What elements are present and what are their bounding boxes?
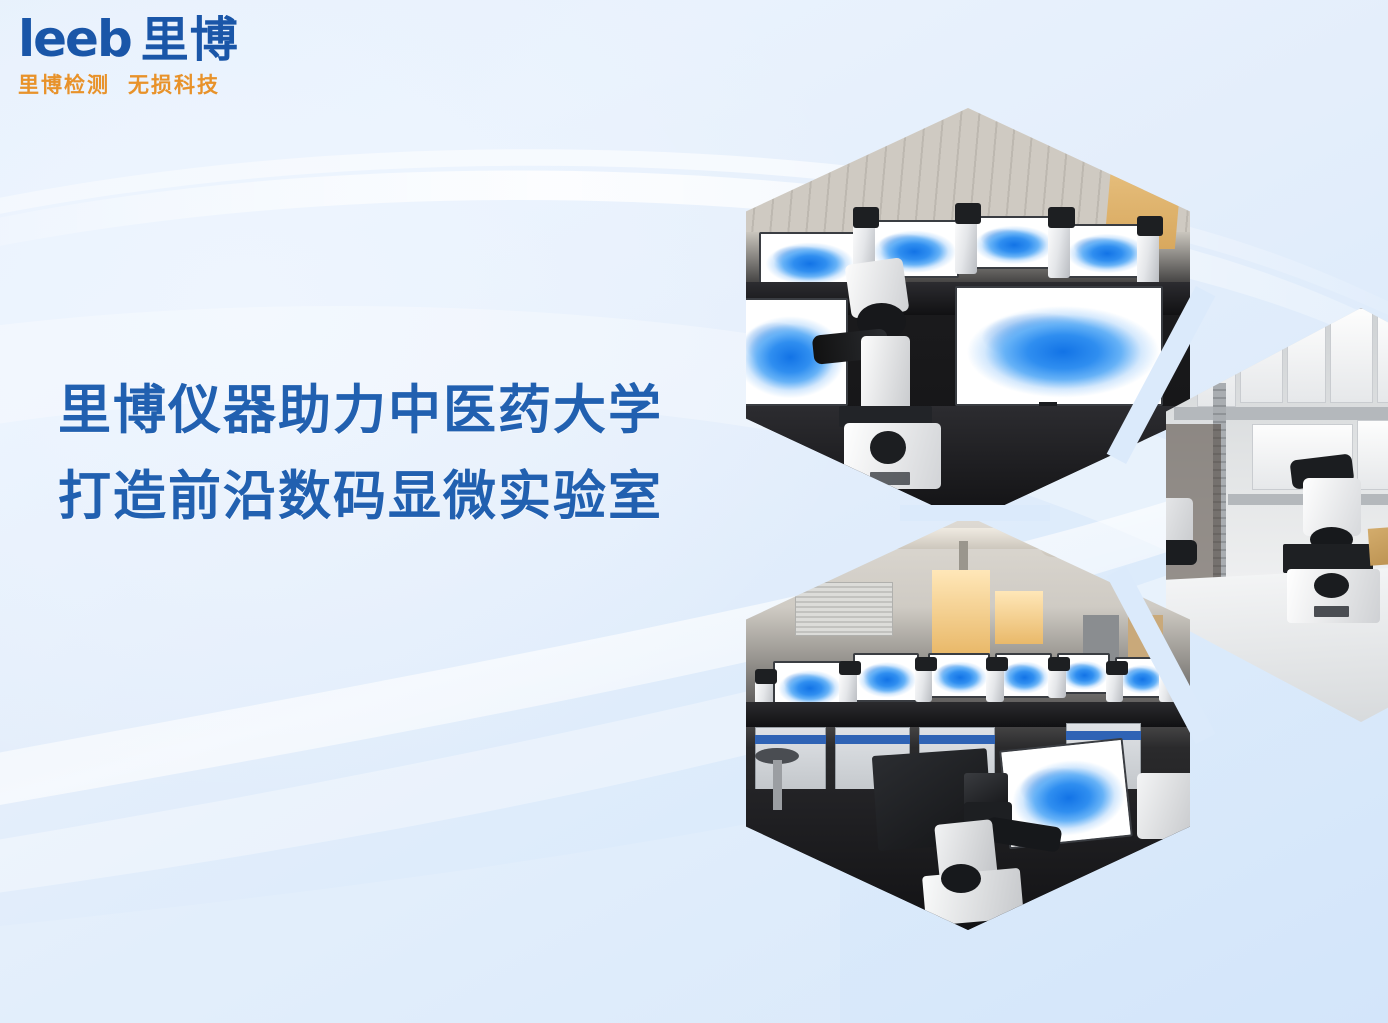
brand-logo: leeb 里博 里博检测 无损科技 [18, 14, 318, 99]
storage-box [1240, 308, 1283, 403]
microscope-head [955, 203, 982, 224]
shelf-rail [1174, 407, 1388, 419]
microscope-row [1159, 665, 1177, 702]
microscope-head [1048, 657, 1070, 671]
lab-stool-post [773, 760, 782, 810]
window-blinds [795, 582, 893, 636]
headline-line-2: 打造前沿数码显微实验室 [58, 454, 758, 540]
microscope-eyepiece [1166, 540, 1197, 565]
marketing-banner: leeb 里博 里博检测 无损科技 里博仪器助力中医药大学 打造前沿数码显微实验… [0, 0, 1388, 1023]
headline-line-1: 里博仪器助力中医药大学 [58, 368, 758, 454]
lab-bench-front [746, 406, 1190, 522]
microscope-head [839, 661, 861, 675]
microscope-nosepiece [941, 864, 981, 893]
photo-hexagon-right [1166, 308, 1388, 722]
storage-box [1357, 420, 1388, 490]
microscope-head [1048, 207, 1075, 228]
leeb-logo-on-device [1314, 606, 1349, 617]
microscope-head [986, 657, 1008, 671]
microscope-focus-knob [1314, 573, 1349, 598]
lab-panorama-scene [746, 516, 1190, 930]
microscope-focus-knob [870, 431, 906, 464]
logo-wordmark: leeb 里博 [18, 14, 318, 64]
photo-hexagon-top [746, 108, 1190, 522]
tagline-right-text: 无损科技 [128, 69, 220, 99]
ceiling-duct [826, 520, 862, 570]
storage-box [1287, 312, 1326, 403]
tagline-left-text: 里博检测 [18, 69, 110, 99]
storage-box [1330, 308, 1373, 403]
cabinet-accent-stripe [755, 735, 826, 743]
ceiling-duct [1038, 530, 1164, 568]
microscope-camera [964, 773, 1008, 806]
cabinet-accent-stripe [1066, 731, 1141, 739]
monitor-row [928, 653, 990, 699]
microscope-head [853, 207, 880, 228]
cardboard-box [1368, 526, 1388, 567]
cabinet-accent-stripe [919, 735, 994, 743]
logo-chinese-text: 里博 [141, 16, 239, 64]
monitor-row [853, 653, 920, 703]
microscope-partial-right [1137, 773, 1190, 839]
monitor-back [968, 216, 1057, 270]
cabinet-accent-stripe [835, 735, 910, 743]
microscope-storage-scene [1166, 308, 1388, 722]
microscope-head [755, 669, 777, 683]
microscope-head [1106, 661, 1128, 675]
window-bright [995, 591, 1044, 645]
photo-hexagon-bottom [746, 516, 1190, 930]
window-bright [932, 570, 990, 653]
lab-classroom-scene [746, 108, 1190, 522]
microscope-head [1137, 216, 1164, 237]
brand-tagline: 里博检测 无损科技 [18, 69, 318, 99]
leeb-logo-on-device [870, 472, 910, 484]
microscope-head [915, 657, 937, 671]
headline-block: 里博仪器助力中医药大学 打造前沿数码显微实验室 [58, 368, 758, 540]
monitor-foreground-right [955, 286, 1164, 406]
logo-latin-text: leeb [18, 14, 131, 64]
storage-box [1377, 312, 1388, 403]
